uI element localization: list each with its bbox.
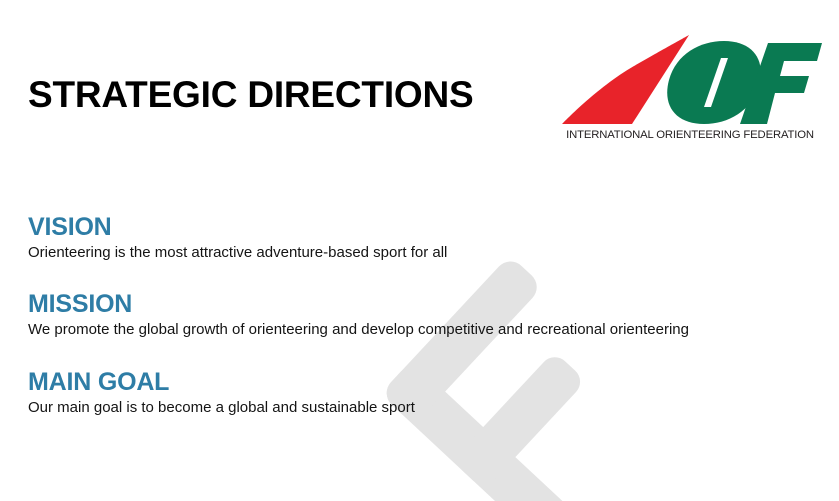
section-heading-mission: MISSION (28, 289, 768, 319)
presentation-slide: STRATEGIC DIRECTIONS INTERNATIONAL ORIEN… (0, 0, 839, 501)
section-heading-main-goal: MAIN GOAL (28, 367, 768, 397)
iof-logo-caption: INTERNATIONAL ORIENTEERING FEDERATION (556, 128, 824, 142)
page-title: STRATEGIC DIRECTIONS (28, 73, 474, 117)
section-main-goal: MAIN GOAL Our main goal is to become a g… (28, 367, 768, 417)
section-vision: VISION Orienteering is the most attracti… (28, 212, 768, 262)
iof-logo-mark-icon (556, 33, 824, 126)
section-body-vision: Orienteering is the most attractive adve… (28, 243, 728, 262)
section-body-main-goal: Our main goal is to become a global and … (28, 398, 728, 417)
section-body-mission: We promote the global growth of orientee… (28, 320, 728, 339)
section-mission: MISSION We promote the global growth of … (28, 289, 768, 339)
iof-logo: INTERNATIONAL ORIENTEERING FEDERATION (556, 33, 824, 148)
strategic-directions-list: VISION Orienteering is the most attracti… (28, 212, 768, 417)
section-heading-vision: VISION (28, 212, 768, 242)
